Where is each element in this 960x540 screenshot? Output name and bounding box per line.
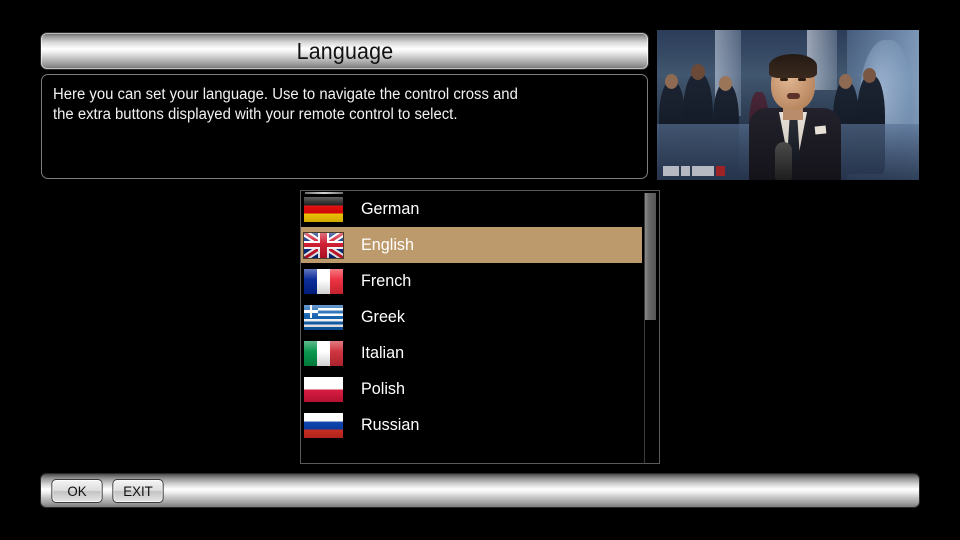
- watermark-block: [681, 166, 690, 176]
- list-item-label: German: [361, 199, 419, 219]
- list-item-label: Italian: [361, 343, 404, 363]
- scrollbar-track[interactable]: [644, 193, 656, 463]
- list-item-label: Greek: [361, 307, 405, 327]
- description-text: Here you can set your language. Use to n…: [53, 85, 613, 125]
- exit-button[interactable]: EXIT: [112, 479, 163, 503]
- list-item-label: French: [361, 271, 411, 291]
- video-anchor-pocket-square: [815, 125, 827, 134]
- list-item-label: English: [361, 235, 414, 255]
- list-item[interactable]: French: [301, 263, 641, 299]
- list-item[interactable]: Polish: [301, 371, 641, 407]
- list-item[interactable]: Italian: [301, 335, 641, 371]
- language-list-panel: German English French: [300, 190, 660, 464]
- video-preview[interactable]: [657, 30, 919, 180]
- video-anchor-hair: [769, 54, 817, 78]
- description-panel: Here you can set your language. Use to n…: [41, 74, 648, 179]
- flag-france-icon: [304, 269, 343, 294]
- list-item[interactable]: German: [301, 191, 641, 227]
- video-anchor-eye: [780, 78, 788, 81]
- video-crowd-head: [863, 68, 876, 83]
- watermark-block: [716, 166, 725, 176]
- flag-russia-icon: [304, 413, 343, 438]
- news-channel-watermark-icon: [663, 165, 725, 176]
- list-item-selected[interactable]: English: [301, 227, 642, 263]
- list-item-label: Russian: [361, 415, 419, 435]
- language-list[interactable]: German English French: [301, 191, 641, 443]
- watermark-block: [663, 166, 679, 176]
- page-title: Language: [296, 38, 393, 65]
- video-crowd-head: [691, 64, 705, 80]
- flag-greece-icon: [304, 305, 343, 330]
- list-item[interactable]: Greek: [301, 299, 641, 335]
- video-anchor-eye: [798, 78, 806, 81]
- video-anchor-mouth: [787, 93, 800, 99]
- scrollbar-thumb[interactable]: [645, 193, 656, 320]
- video-crowd-head: [665, 74, 678, 89]
- video-crowd-head: [839, 74, 852, 89]
- video-anchor-microphone: [775, 142, 792, 180]
- flag-poland-icon: [304, 377, 343, 402]
- flag-germany-icon: [304, 197, 343, 222]
- flag-united-kingdom-icon: [304, 233, 343, 258]
- tv-settings-screen: Language Here you can set your language.…: [0, 0, 960, 540]
- footer-bar: OK EXIT: [41, 474, 919, 507]
- list-item[interactable]: Russian: [301, 407, 641, 443]
- ok-button[interactable]: OK: [51, 479, 102, 503]
- list-item-label: Polish: [361, 379, 405, 399]
- title-bar: Language: [41, 33, 648, 69]
- flag-italy-icon: [304, 341, 343, 366]
- watermark-block: [692, 166, 714, 176]
- video-crowd-head: [719, 76, 732, 91]
